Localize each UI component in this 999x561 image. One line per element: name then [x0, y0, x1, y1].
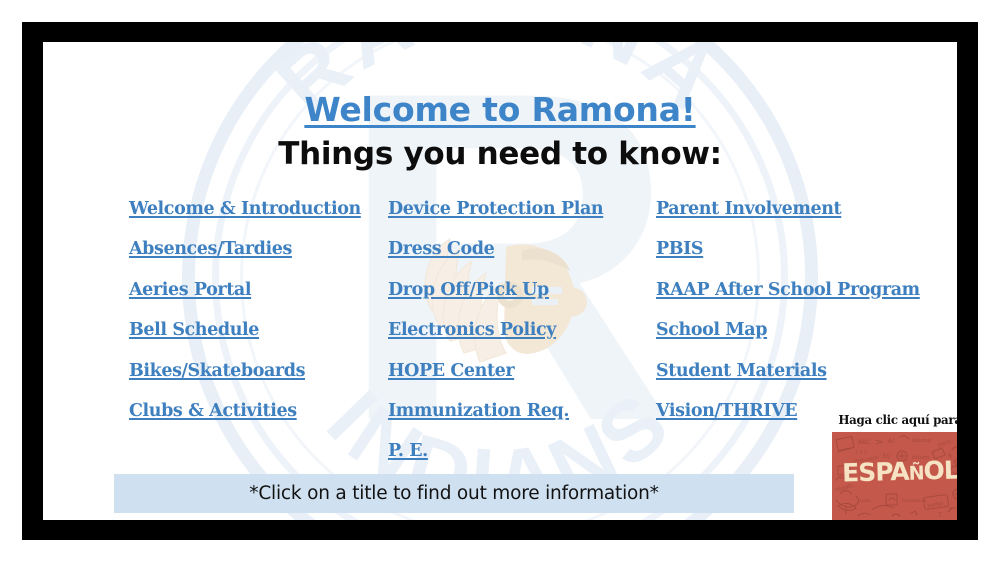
link-aeries-portal[interactable]: Aeries Portal [129, 280, 251, 300]
link-electronics-policy[interactable]: Electronics Policy [388, 320, 556, 340]
espanol-button-image[interactable]: ABC A! idioma para ( ) ? Presente 3!/ [832, 432, 958, 520]
link-student-materials[interactable]: Student Materials [656, 361, 827, 381]
link-drop-off-pick-up[interactable]: Drop Off/Pick Up [388, 280, 549, 300]
svg-text:para: para [936, 438, 952, 448]
link-pbis[interactable]: PBIS [656, 239, 703, 259]
link-column-3: Parent Involvement PBIS RAAP After Schoo… [656, 190, 946, 432]
list-item: Dress Code [388, 230, 648, 270]
svg-text:verbo: verbo [927, 501, 944, 509]
list-item: School Map [656, 311, 946, 351]
list-item: PBIS [656, 230, 946, 270]
instruction-text: *Click on a title to find out more infor… [249, 483, 658, 504]
svg-text:( ) ?: ( ) ? [856, 449, 867, 456]
svg-text:idioma: idioma [912, 438, 932, 444]
link-device-protection-plan[interactable]: Device Protection Plan [388, 199, 603, 219]
list-item: P. E. [388, 432, 648, 472]
spanish-caption: Haga clic aquí para [827, 413, 957, 428]
page-subtitle: Things you need to know: [43, 135, 957, 173]
list-item: Student Materials [656, 352, 946, 392]
link-bikes-skateboards[interactable]: Bikes/Skateboards [129, 361, 305, 381]
list-item: RAAP After School Program [656, 271, 946, 311]
svg-text:ABC: ABC [858, 439, 870, 446]
link-hope-center[interactable]: HOPE Center [388, 361, 514, 381]
link-pe[interactable]: P. E. [388, 441, 428, 461]
list-item: Drop Off/Pick Up [388, 271, 648, 311]
slide-canvas: R RAMONA INDIANS [43, 42, 957, 520]
link-column-1: Welcome & Introduction Absences/Tardies … [129, 190, 384, 432]
link-raap-after-school-program[interactable]: RAAP After School Program [656, 280, 920, 300]
link-immunization-req[interactable]: Immunization Req. [388, 401, 569, 421]
list-item: Bikes/Skateboards [129, 352, 384, 392]
list-item: Absences/Tardies [129, 230, 384, 270]
slide-black-frame: R RAMONA INDIANS [22, 22, 978, 540]
link-vision-thrive[interactable]: Vision/THRIVE [656, 401, 797, 421]
svg-text:hablamos: hablamos [902, 498, 927, 504]
link-absences-tardies[interactable]: Absences/Tardies [129, 239, 292, 259]
list-item: Electronics Policy [388, 311, 648, 351]
slide-root: R RAMONA INDIANS [0, 0, 999, 561]
svg-text:T: T [937, 512, 942, 519]
svg-text:hola: hola [860, 498, 871, 504]
link-school-map[interactable]: School Map [656, 320, 767, 340]
espanol-word: ESPAÑOL [832, 456, 958, 490]
list-item: Welcome & Introduction [129, 190, 384, 230]
page-title-link[interactable]: Welcome to Ramona! [304, 90, 695, 130]
heading-block: Welcome to Ramona! Things you need to kn… [43, 90, 957, 173]
link-welcome-introduction[interactable]: Welcome & Introduction [129, 199, 361, 219]
link-clubs-activities[interactable]: Clubs & Activities [129, 401, 297, 421]
spanish-callout: Haga clic aquí para ABC A! idioma para [827, 413, 957, 520]
link-parent-involvement[interactable]: Parent Involvement [656, 199, 841, 219]
svg-text:A!: A! [888, 438, 895, 445]
link-dress-code[interactable]: Dress Code [388, 239, 494, 259]
list-item: Aeries Portal [129, 271, 384, 311]
list-item: Immunization Req. [388, 392, 648, 432]
link-bell-schedule[interactable]: Bell Schedule [129, 320, 259, 340]
list-item: Clubs & Activities [129, 392, 384, 432]
list-item: HOPE Center [388, 352, 648, 392]
list-item: Bell Schedule [129, 311, 384, 351]
link-columns: Welcome & Introduction Absences/Tardies … [43, 190, 957, 450]
instruction-banner: *Click on a title to find out more infor… [114, 474, 794, 513]
list-item: Device Protection Plan [388, 190, 648, 230]
list-item: Parent Involvement [656, 190, 946, 230]
link-column-2: Device Protection Plan Dress Code Drop O… [388, 190, 648, 473]
